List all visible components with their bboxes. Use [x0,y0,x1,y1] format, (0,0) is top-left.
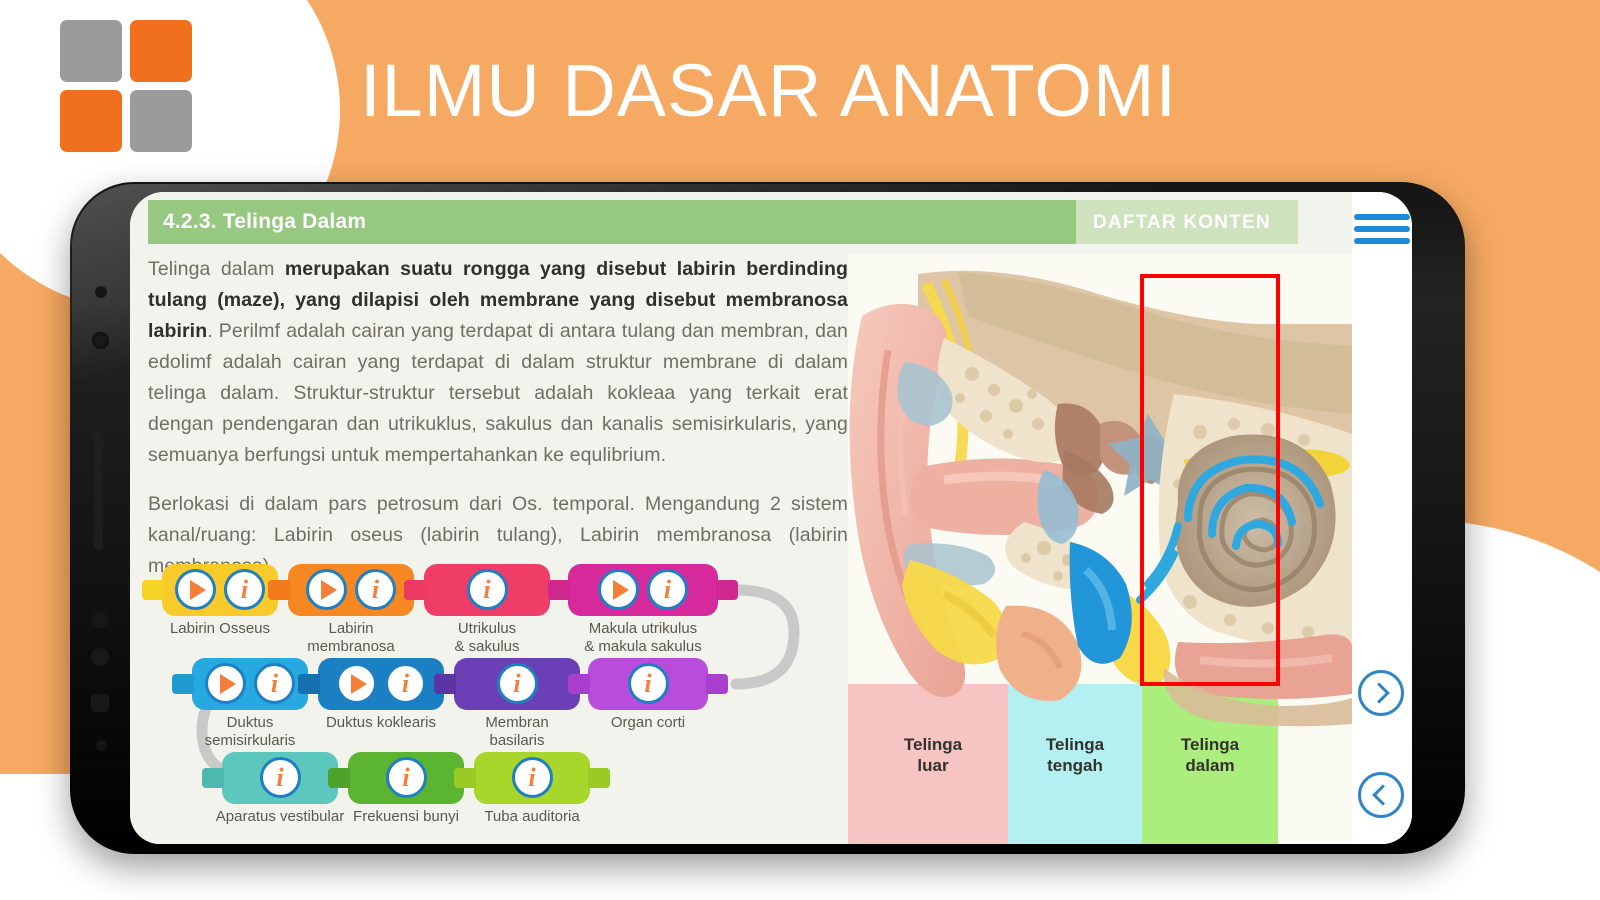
chip-connector-left [298,674,320,694]
chip-connector-left [268,580,290,600]
play-icon[interactable] [306,569,347,610]
app-content: 4.2.3. Telinga Dalam DAFTAR KONTEN Telin… [130,192,1352,844]
play-icon[interactable] [336,663,377,704]
flow-row: iLabirin OsseusiLabirinmembranosaiUtriku… [148,564,848,648]
flow-chip[interactable]: i [222,752,338,804]
flow-chip[interactable]: i [162,564,278,616]
flow-chip[interactable]: i [568,564,718,616]
info-icon[interactable]: i [497,663,538,704]
flow-chip-label: Duktus koklearis [306,714,456,732]
info-icon-glyph: i [271,671,278,697]
phone-mockup: 4.2.3. Telinga Dalam DAFTAR KONTEN Telin… [70,182,1465,854]
flow-chip-label: Aparatus vestibular [210,808,350,826]
info-icon[interactable]: i [467,569,508,610]
chip-connector-left [404,580,426,600]
logo-tile-orange-2 [60,90,122,152]
chip-connector-right [716,580,738,600]
proximity-sensor-icon [95,286,107,298]
chip-connector-left [548,580,570,600]
app-side-rail [1352,192,1412,844]
hamburger-menu-icon[interactable] [1354,214,1410,248]
chevron-left-icon [1372,784,1393,805]
next-page-button[interactable] [1358,670,1404,716]
play-icon-glyph [613,580,629,600]
menu-bar-2 [1354,226,1410,232]
flow-chip-label: Labirinmembranosa [276,620,426,656]
play-icon-glyph [321,580,337,600]
flow-chip[interactable]: i [348,752,464,804]
info-icon[interactable]: i [224,569,265,610]
flow-chip[interactable]: i [318,658,444,710]
info-icon-glyph: i [372,577,379,603]
hardware-button-4 [96,740,107,751]
flow-chip-label: Makula utrikulus& makula sakulus [556,620,730,656]
info-icon[interactable]: i [512,757,553,798]
earpiece-speaker [94,432,103,550]
flow-chip-label: Labirin Osseus [150,620,290,638]
play-icon[interactable] [598,569,639,610]
region-label-outer-ear: Telingaluar [858,734,1008,776]
chevron-right-icon [1369,682,1390,703]
menu-bar-1 [1354,214,1410,220]
play-icon-glyph [351,674,367,694]
paragraph-1: Telinga dalam merupakan suatu rongga yan… [148,254,848,471]
topic-flow-chart: iLabirin OsseusiLabirinmembranosaiUtriku… [148,564,848,834]
chip-connector-left [454,768,476,788]
info-icon-glyph: i [528,765,535,791]
flow-chip[interactable]: i [474,752,590,804]
front-camera-icon [92,332,109,349]
flow-chip[interactable]: i [588,658,708,710]
contents-button-label: DAFTAR KONTEN [1093,212,1271,234]
region-label-inner-ear: Telingadalam [1142,734,1278,776]
logo-tile-gray-1 [60,20,122,82]
chip-connector-left [434,674,456,694]
flow-row: iDuktussemisirkularisiDuktus koklearisiM… [148,658,848,742]
menu-bar-3 [1354,238,1410,244]
chip-connector-left [202,768,224,788]
info-icon-glyph: i [644,671,651,697]
play-icon-glyph [220,674,236,694]
info-icon-glyph: i [402,671,409,697]
promo-title: ILMU DASAR ANATOMI [360,48,1177,134]
flow-chip[interactable]: i [192,658,308,710]
flow-chip[interactable]: i [288,564,414,616]
info-icon-glyph: i [513,671,520,697]
play-icon[interactable] [205,663,246,704]
ear-anatomy-panel: Telingaluar Telingatengah Telingadalam [848,254,1352,844]
info-icon-glyph: i [664,577,671,603]
flow-chip[interactable]: i [424,564,550,616]
flow-chip-label: Tuba auditoria [462,808,602,826]
region-label-middle-ear: Telingatengah [1008,734,1142,776]
flow-chip-label: Frekuensi bunyi [336,808,476,826]
previous-page-button[interactable] [1358,772,1404,818]
breadcrumb: 4.2.3. Telinga Dalam [163,210,366,234]
logo-tile-orange-1 [130,20,192,82]
chip-connector-left [568,674,590,694]
chip-connector-right [706,674,728,694]
chip-connector-left [172,674,194,694]
info-icon[interactable]: i [386,757,427,798]
logo-tile-gray-2 [130,90,192,152]
flow-row: iAparatus vestibulariFrekuensi bunyiiTub… [148,752,848,836]
info-icon[interactable]: i [254,663,295,704]
phone-screen: 4.2.3. Telinga Dalam DAFTAR KONTEN Telin… [130,192,1412,844]
flow-chip-label: Duktussemisirkularis [180,714,320,750]
chip-connector-left [328,768,350,788]
info-icon-glyph: i [276,765,283,791]
info-icon[interactable]: i [628,663,669,704]
hardware-button-3 [91,694,109,712]
info-icon[interactable]: i [260,757,301,798]
hardware-button-2 [91,648,109,666]
flow-chip-label: Membranbasilaris [442,714,592,750]
info-icon[interactable]: i [647,569,688,610]
app-header: 4.2.3. Telinga Dalam DAFTAR KONTEN [130,200,1352,244]
flow-chip-label: Organ corti [576,714,720,732]
flow-chip[interactable]: i [454,658,580,710]
info-icon-glyph: i [241,577,248,603]
hardware-button-1 [92,612,108,628]
flow-chip-label: Utrikulus& sakulus [412,620,562,656]
play-icon-glyph [190,580,206,600]
promo-screenshot: ILMU DASAR ANATOMI 4.2.3. Telinga Dalam … [0,0,1600,900]
play-icon[interactable] [175,569,216,610]
info-icon-glyph: i [483,577,490,603]
info-icon-glyph: i [402,765,409,791]
lesson-text: Telinga dalam merupakan suatu rongga yan… [148,254,848,600]
info-icon[interactable]: i [385,663,426,704]
chip-connector-left [142,580,164,600]
chip-connector-right [588,768,610,788]
app-logo [60,20,200,160]
info-icon[interactable]: i [355,569,396,610]
